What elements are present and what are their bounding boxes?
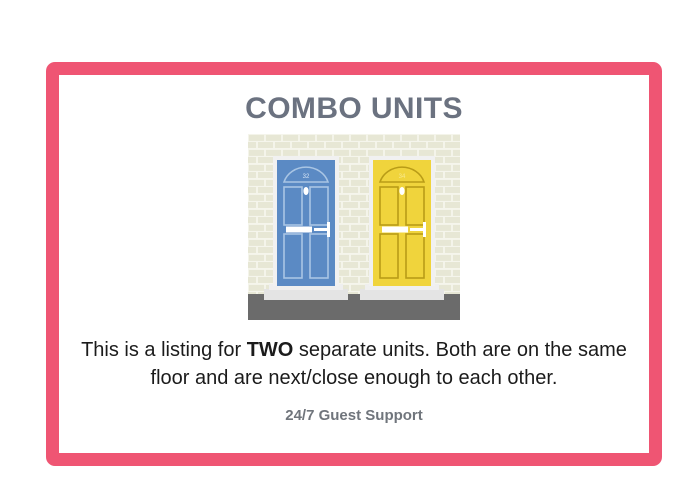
yellow-door-number: 34 — [399, 174, 406, 180]
card-content: COMBO UNITS — [59, 75, 649, 453]
description-text: This is a listing for TWO separate units… — [74, 336, 634, 393]
page-title: COMBO UNITS — [245, 94, 463, 124]
description-prefix: This is a listing for — [81, 339, 247, 361]
guest-support-note: 24/7 Guest Support — [285, 407, 423, 424]
combo-units-card: COMBO UNITS — [46, 62, 662, 466]
blue-door-group: 32 — [264, 156, 348, 300]
yellow-door-group: 34 — [360, 156, 444, 300]
two-front-doors-illustration: 32 — [248, 134, 460, 320]
description-emphasis: TWO — [247, 339, 294, 361]
blue-door-number: 32 — [303, 174, 310, 180]
